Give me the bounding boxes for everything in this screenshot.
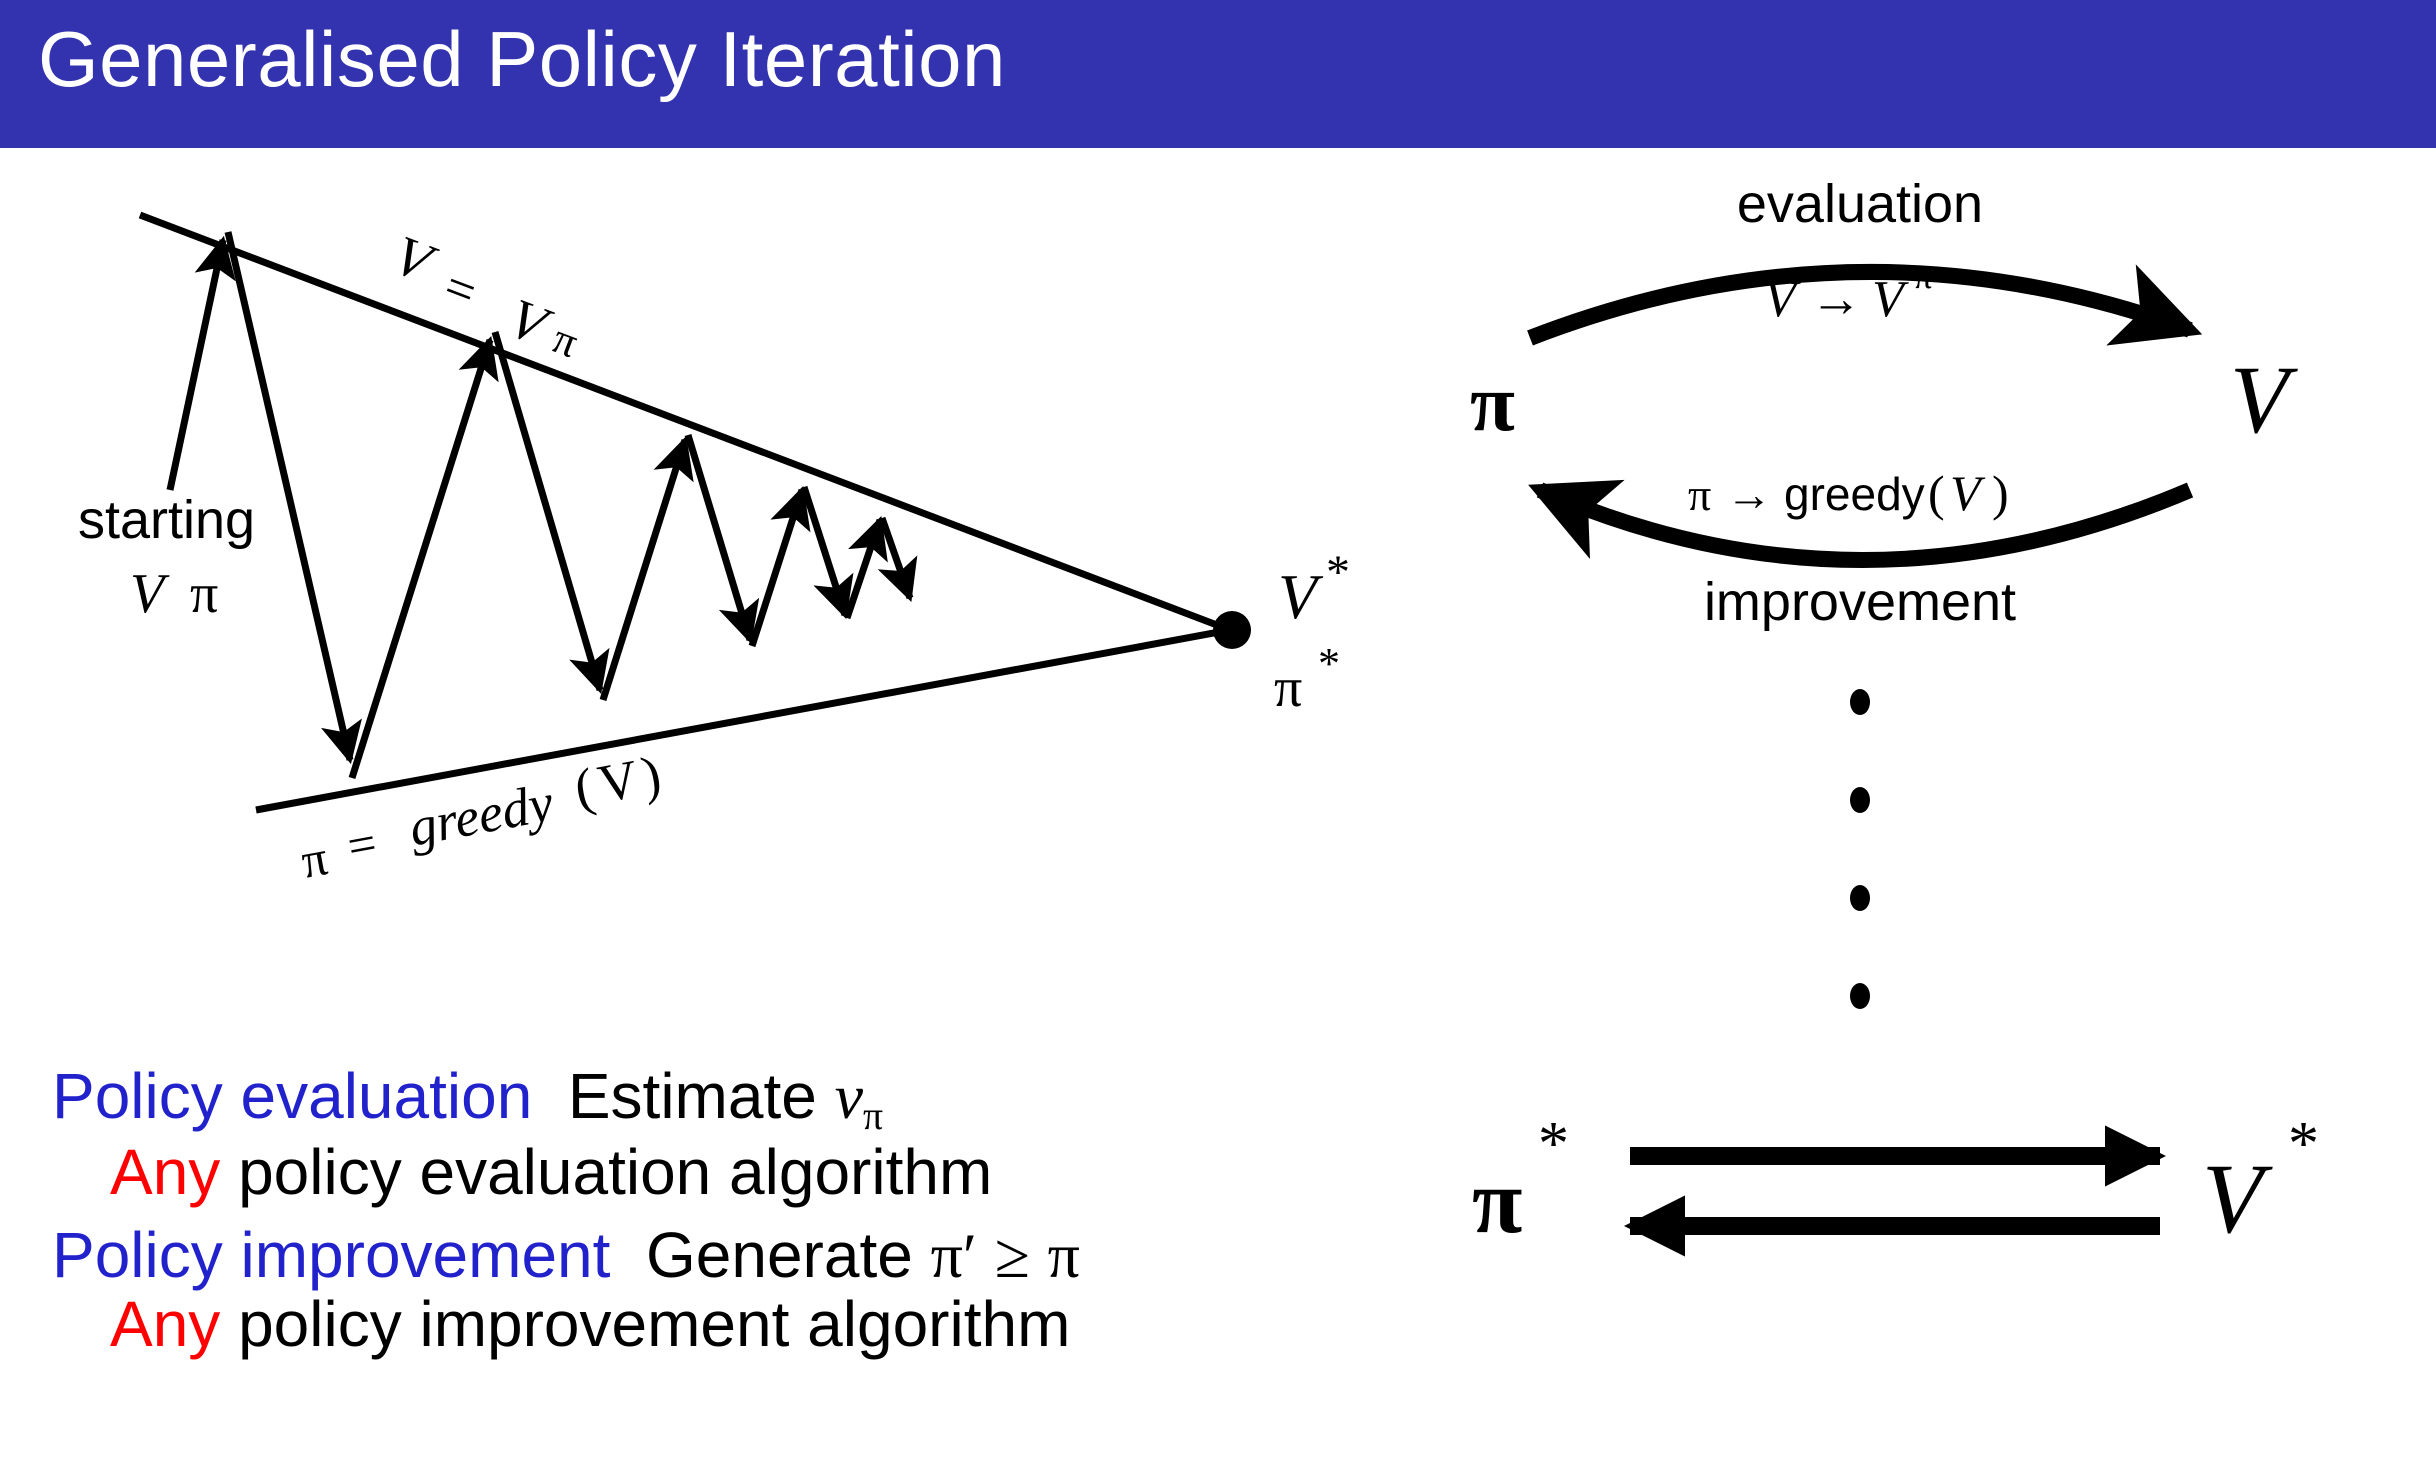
bottom-V-star-mark: * <box>2288 1110 2319 1178</box>
starting-arrow <box>170 240 223 490</box>
body-text-region: Policy evaluation Estimate vπ Any policy… <box>52 1062 1472 1373</box>
upper-line-V: V <box>385 224 444 296</box>
policy-evaluation-sub-text: policy evaluation algorithm <box>238 1136 992 1208</box>
lower-line-paren-open: ( <box>570 756 599 818</box>
convergence-point-dot <box>1213 611 1251 649</box>
bullet-block-policy-improvement: Policy improvement Generate π′ ≥ π Any p… <box>52 1221 1472 1359</box>
lower-boundary-line <box>256 630 1230 810</box>
policy-evaluation-sub-line: Any policy evaluation algorithm <box>110 1138 1472 1207</box>
improvement-expr-arrow: → <box>1726 469 1772 520</box>
policy-improvement-sub-text: policy improvement algorithm <box>238 1288 1070 1360</box>
evaluation-label: evaluation <box>1737 174 1983 234</box>
apex-pi-star-mark: * <box>1318 639 1340 688</box>
zigzag-up-4 <box>847 520 880 618</box>
vertical-dot <box>1850 983 1870 1009</box>
evaluation-expr-Vpi-V: V <box>1872 271 1909 328</box>
policy-iteration-convergence-diagram: starting V π V = V π π = greedy ( V ) V <box>60 160 1460 1040</box>
bottom-V-star-symbol: V <box>2202 1143 2273 1254</box>
lower-line-V: V <box>593 748 642 814</box>
apex-pi-star-symbol: π <box>1274 657 1302 719</box>
zigzag-down-4 <box>804 487 845 615</box>
policy-improvement-keyword: Policy improvement <box>52 1219 610 1291</box>
bullet-block-policy-evaluation: Policy evaluation Estimate vπ Any policy… <box>52 1062 1472 1207</box>
slide-title: Generalised Policy Iteration <box>38 14 1006 105</box>
apex-V-star-symbol: V <box>1278 561 1324 632</box>
improvement-expr-pi: π <box>1688 469 1711 520</box>
policy-evaluation-statement-symbol: v <box>835 1061 863 1132</box>
lower-line-equals: = <box>343 814 381 874</box>
zigzag-down-3 <box>688 435 750 640</box>
policy-improvement-head-line: Policy improvement Generate π′ ≥ π <box>52 1221 1472 1290</box>
policy-improvement-statement-symbol: π′ <box>931 1220 977 1291</box>
lower-line-greedy: greedy <box>404 772 557 857</box>
bottom-pi-star-symbol: π <box>1472 1150 1522 1252</box>
policy-evaluation-sub-keyword: Any <box>110 1136 220 1208</box>
policy-improvement-sub-line: Any policy improvement algorithm <box>110 1290 1472 1359</box>
improvement-expr-greedy: greedy <box>1784 468 1925 520</box>
lower-line-paren-close: ) <box>637 744 666 806</box>
vertical-dot <box>1850 689 1870 715</box>
cycle-node-pi: π <box>1470 357 1515 448</box>
evaluation-improvement-cycle-diagram: evaluation V → V π π → greedy ( V ) impr… <box>1460 160 2436 1476</box>
policy-evaluation-keyword: Policy evaluation <box>52 1060 532 1132</box>
bottom-pi-star-mark: * <box>1538 1110 1569 1178</box>
zigzag-up-3 <box>752 490 802 646</box>
convergence-diagram-svg: starting V π V = V π π = greedy ( V ) V <box>60 160 1460 1040</box>
starting-label: starting <box>78 490 255 550</box>
evaluation-expr-arrow: → <box>1810 271 1862 328</box>
improvement-expr-paren-close: ) <box>1992 465 2009 521</box>
improvement-expr-V: V <box>1950 465 1986 521</box>
policy-evaluation-statement-prefix: Estimate <box>568 1060 817 1132</box>
vertical-dot <box>1850 787 1870 813</box>
apex-V-star-mark: * <box>1326 546 1350 599</box>
starting-V-label: V <box>130 563 170 625</box>
zigzag-down-5 <box>882 518 910 598</box>
policy-evaluation-head-line: Policy evaluation Estimate vπ <box>52 1062 1472 1138</box>
zigzag-up-2 <box>603 440 685 700</box>
improvement-expr-paren-open: ( <box>1928 465 1945 521</box>
improvement-label: improvement <box>1704 572 2016 632</box>
improvement-expression-group: π → greedy ( V ) <box>1688 465 2009 521</box>
lower-line-pi: π <box>297 829 332 889</box>
upper-line-Vpi-pi: π <box>546 314 584 368</box>
policy-improvement-sub-keyword: Any <box>110 1288 220 1360</box>
vertical-dot <box>1850 885 1870 911</box>
slide-title-bar: Generalised Policy Iteration <box>0 0 2436 148</box>
cycle-diagram-svg: evaluation V → V π π → greedy ( V ) impr… <box>1460 160 2436 1476</box>
slide-canvas: Generalised Policy Iteration <box>0 0 2436 1476</box>
policy-improvement-statement-relation: ≥ <box>995 1220 1030 1291</box>
cycle-node-V: V <box>2230 346 2298 453</box>
evaluation-expr-V: V <box>1764 271 1801 328</box>
evaluation-expr-Vpi-superscript: π <box>1914 256 1932 296</box>
policy-evaluation-statement-subscript: π <box>863 1094 883 1138</box>
starting-pi-label: π <box>190 563 218 625</box>
upper-line-equals: = <box>436 258 484 322</box>
policy-improvement-statement-operand: π <box>1048 1220 1080 1291</box>
policy-improvement-statement-prefix: Generate <box>646 1219 913 1291</box>
zigzag-up-1 <box>352 340 490 778</box>
